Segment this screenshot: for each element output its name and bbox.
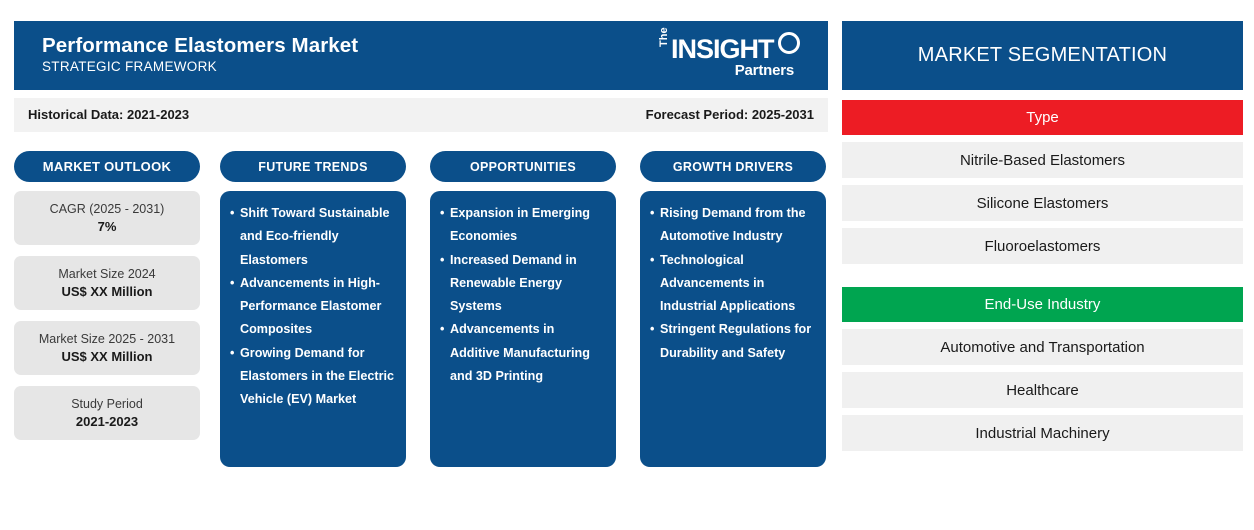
metric-value: 7% bbox=[98, 218, 117, 236]
opportunities-heading: OPPORTUNITIES bbox=[430, 151, 616, 182]
list-item: Rising Demand from the Automotive Indust… bbox=[650, 202, 814, 249]
metric-label: Market Size 2025 - 2031 bbox=[39, 331, 175, 348]
list-item: Expansion in Emerging Economies bbox=[440, 202, 604, 249]
column-growth-drivers: GROWTH DRIVERS Rising Demand from the Au… bbox=[640, 151, 826, 182]
strategic-framework-panel: Performance Elastomers Market STRATEGIC … bbox=[14, 21, 828, 467]
panel-header: Performance Elastomers Market STRATEGIC … bbox=[14, 21, 828, 90]
segment-item: Nitrile-Based Elastomers bbox=[842, 142, 1243, 178]
list-item: Advancements in Additive Manufacturing a… bbox=[440, 318, 604, 388]
metric-label: Study Period bbox=[71, 396, 143, 413]
market-outlook-heading: MARKET OUTLOOK bbox=[14, 151, 200, 182]
page-subtitle: STRATEGIC FRAMEWORK bbox=[42, 58, 358, 76]
metric-label: Market Size 2024 bbox=[58, 266, 155, 283]
segment-item: Industrial Machinery bbox=[842, 415, 1243, 451]
segment-item: Silicone Elastomers bbox=[842, 185, 1243, 221]
segment-group-divider bbox=[842, 264, 1243, 277]
list-item: Advancements in High-Performance Elastom… bbox=[230, 272, 394, 342]
metric-card-market-size-2024: Market Size 2024 US$ XX Million bbox=[14, 256, 200, 310]
period-bar: Historical Data: 2021-2023 Forecast Peri… bbox=[14, 98, 828, 132]
segment-group-header-type: Type bbox=[842, 100, 1243, 135]
header-text-block: Performance Elastomers Market STRATEGIC … bbox=[42, 33, 358, 76]
opportunities-list: Expansion in Emerging Economies Increase… bbox=[440, 202, 604, 388]
metric-label: CAGR (2025 - 2031) bbox=[50, 201, 165, 218]
future-trends-heading: FUTURE TRENDS bbox=[220, 151, 406, 182]
growth-drivers-card: Rising Demand from the Automotive Indust… bbox=[640, 191, 826, 467]
future-trends-card: Shift Toward Sustainable and Eco-friendl… bbox=[220, 191, 406, 467]
column-market-outlook: MARKET OUTLOOK CAGR (2025 - 2031) 7% Mar… bbox=[14, 151, 200, 182]
growth-drivers-heading: GROWTH DRIVERS bbox=[640, 151, 826, 182]
segment-item: Healthcare bbox=[842, 372, 1243, 408]
metric-card-market-size-forecast: Market Size 2025 - 2031 US$ XX Million bbox=[14, 321, 200, 375]
column-opportunities: OPPORTUNITIES Expansion in Emerging Econ… bbox=[430, 151, 616, 182]
segmentation-heading: MARKET SEGMENTATION bbox=[842, 21, 1243, 90]
metric-value: 2021-2023 bbox=[76, 413, 138, 431]
metric-card-cagr: CAGR (2025 - 2031) 7% bbox=[14, 191, 200, 245]
segment-item: Fluoroelastomers bbox=[842, 228, 1243, 264]
page-title: Performance Elastomers Market bbox=[42, 33, 358, 58]
segment-item: Automotive and Transportation bbox=[842, 329, 1243, 365]
column-future-trends: FUTURE TRENDS Shift Toward Sustainable a… bbox=[220, 151, 406, 182]
historical-data-label: Historical Data: 2021-2023 bbox=[28, 107, 189, 122]
opportunities-card: Expansion in Emerging Economies Increase… bbox=[430, 191, 616, 467]
list-item: Shift Toward Sustainable and Eco-friendl… bbox=[230, 202, 394, 272]
logo-circle-icon bbox=[778, 32, 800, 54]
list-item: Increased Demand in Renewable Energy Sys… bbox=[440, 249, 604, 319]
logo-the-text: The bbox=[658, 27, 670, 47]
insight-partners-logo: The INSIGHT Partners bbox=[657, 31, 802, 83]
metric-card-study-period: Study Period 2021-2023 bbox=[14, 386, 200, 440]
logo-partners-text: Partners bbox=[735, 62, 794, 79]
metric-value: US$ XX Million bbox=[61, 283, 152, 301]
forecast-period-label: Forecast Period: 2025-2031 bbox=[646, 107, 814, 122]
infographic-root: Performance Elastomers Market STRATEGIC … bbox=[0, 0, 1254, 530]
list-item: Growing Demand for Elastomers in the Ele… bbox=[230, 342, 394, 412]
metric-value: US$ XX Million bbox=[61, 348, 152, 366]
list-item: Technological Advancements in Industrial… bbox=[650, 249, 814, 319]
growth-drivers-list: Rising Demand from the Automotive Indust… bbox=[650, 202, 814, 365]
framework-columns: MARKET OUTLOOK CAGR (2025 - 2031) 7% Mar… bbox=[14, 151, 828, 467]
segment-group-header-end-use-industry: End-Use Industry bbox=[842, 287, 1243, 322]
list-item: Stringent Regulations for Durability and… bbox=[650, 318, 814, 365]
future-trends-list: Shift Toward Sustainable and Eco-friendl… bbox=[230, 202, 394, 412]
logo-insight-text: INSIGHT bbox=[671, 36, 774, 63]
market-segmentation-panel: MARKET SEGMENTATION Type Nitrile-Based E… bbox=[842, 21, 1243, 452]
